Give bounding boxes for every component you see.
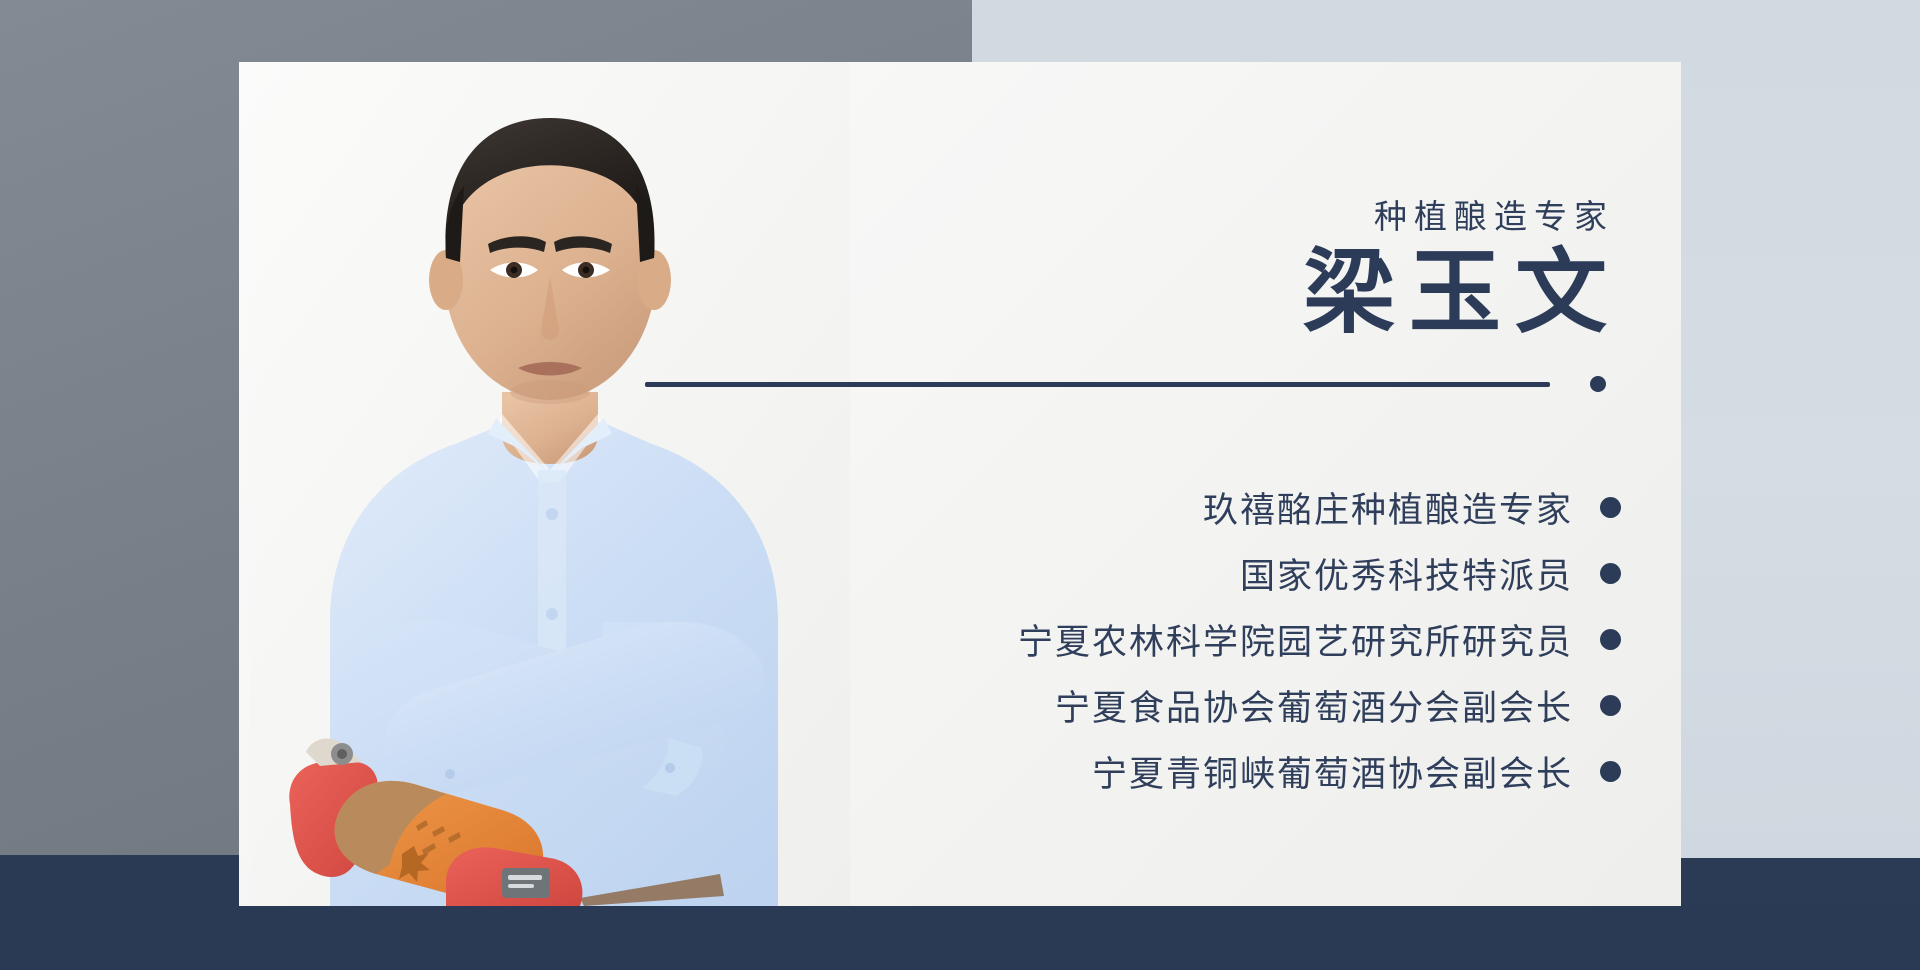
poster-canvas: 种植酿造专家 梁玉文 玖禧酩庄种植酿造专家 国家优秀科技特派员 宁夏农林科学院园… bbox=[0, 0, 1920, 970]
portrait-photo bbox=[250, 62, 850, 906]
background-navy-bottom-strip bbox=[0, 906, 1920, 970]
